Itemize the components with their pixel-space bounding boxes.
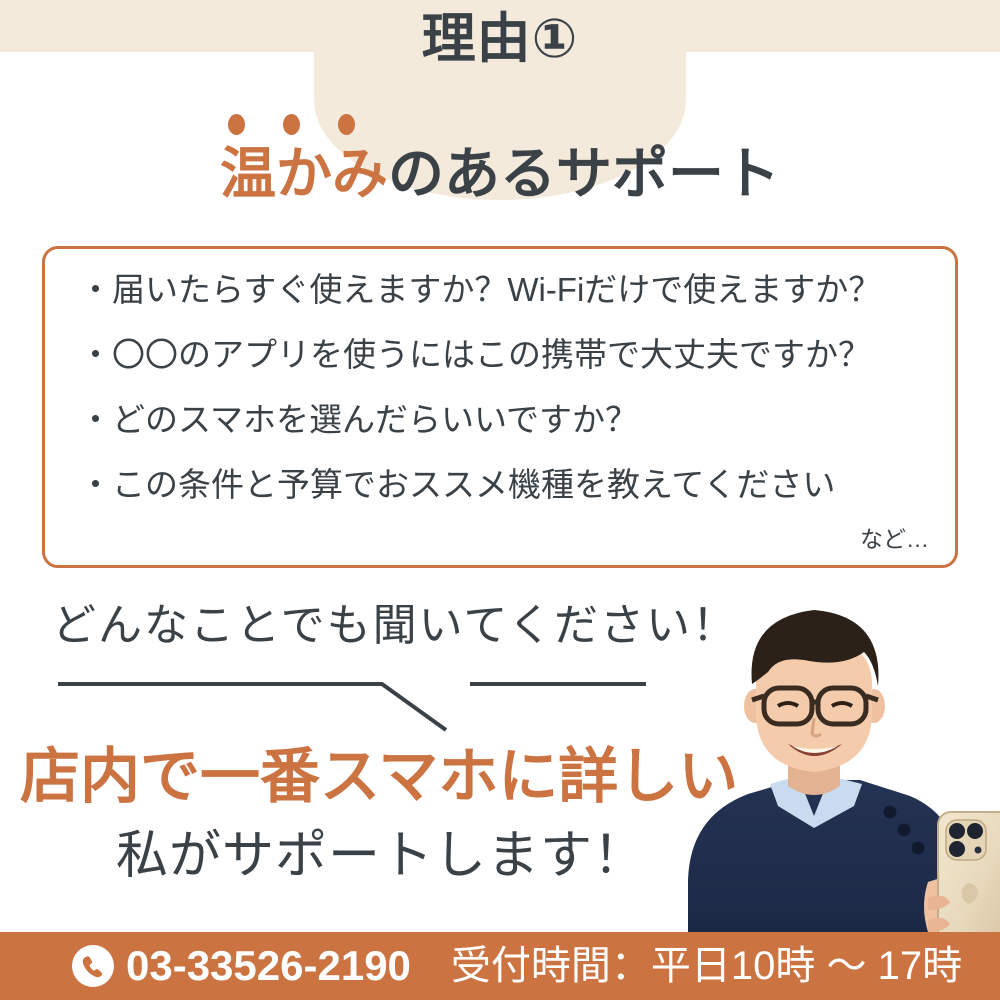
support-headline: 店内で一番スマホに詳しい <box>20 744 738 810</box>
speech-bubble-tail <box>40 660 680 740</box>
sweater-button <box>898 824 911 837</box>
footer-hours-label: 受付時間：平日10時 〜 17時 <box>451 946 962 986</box>
headline: 温かみのあるサポート <box>0 142 1000 206</box>
emphasis-dot <box>283 114 300 135</box>
etcetera-label: など… <box>860 528 929 551</box>
list-item: ・届いたらすぐ使えますか？Wi-Fiだけで使えますか？ <box>79 273 937 306</box>
list-item: ・この条件と予算でおススメ機種を教えてください <box>79 468 937 501</box>
phone-icon <box>72 945 114 987</box>
footer-phone-number[interactable]: 03-33526-2190 <box>126 945 411 987</box>
emphasis-dot <box>228 114 245 135</box>
headline-rest-text: のあるサポート <box>388 142 780 205</box>
reason-badge-label: 理由① <box>0 12 1000 66</box>
camera-lens <box>967 823 983 839</box>
camera-lens <box>949 823 965 839</box>
camera-flash <box>975 847 982 854</box>
camera-lens <box>949 841 965 857</box>
emphasis-dots <box>228 114 408 140</box>
emphasis-dot <box>338 114 355 135</box>
list-item: ・〇〇のアプリを使うにはこの携帯で大丈夫ですか？ <box>79 338 937 371</box>
poster-root: 理由① 温かみのあるサポート ・届いたらすぐ使えますか？Wi-Fiだけで使えます… <box>0 0 1000 1000</box>
list-item: ・どのスマホを選んだらいいですか？ <box>79 403 937 436</box>
question-box: ・届いたらすぐ使えますか？Wi-Fiだけで使えますか？ ・〇〇のアプリを使うには… <box>42 246 958 568</box>
support-subline: 私がサポートします！ <box>116 828 646 885</box>
footer-bar: 03-33526-2190 受付時間：平日10時 〜 17時 <box>0 932 1000 1000</box>
sweater-button <box>912 842 925 855</box>
sweater-button <box>884 806 897 819</box>
headline-accent-text: 温かみ <box>220 142 388 205</box>
question-list: ・届いたらすぐ使えますか？Wi-Fiだけで使えますか？ ・〇〇のアプリを使うには… <box>79 273 937 501</box>
